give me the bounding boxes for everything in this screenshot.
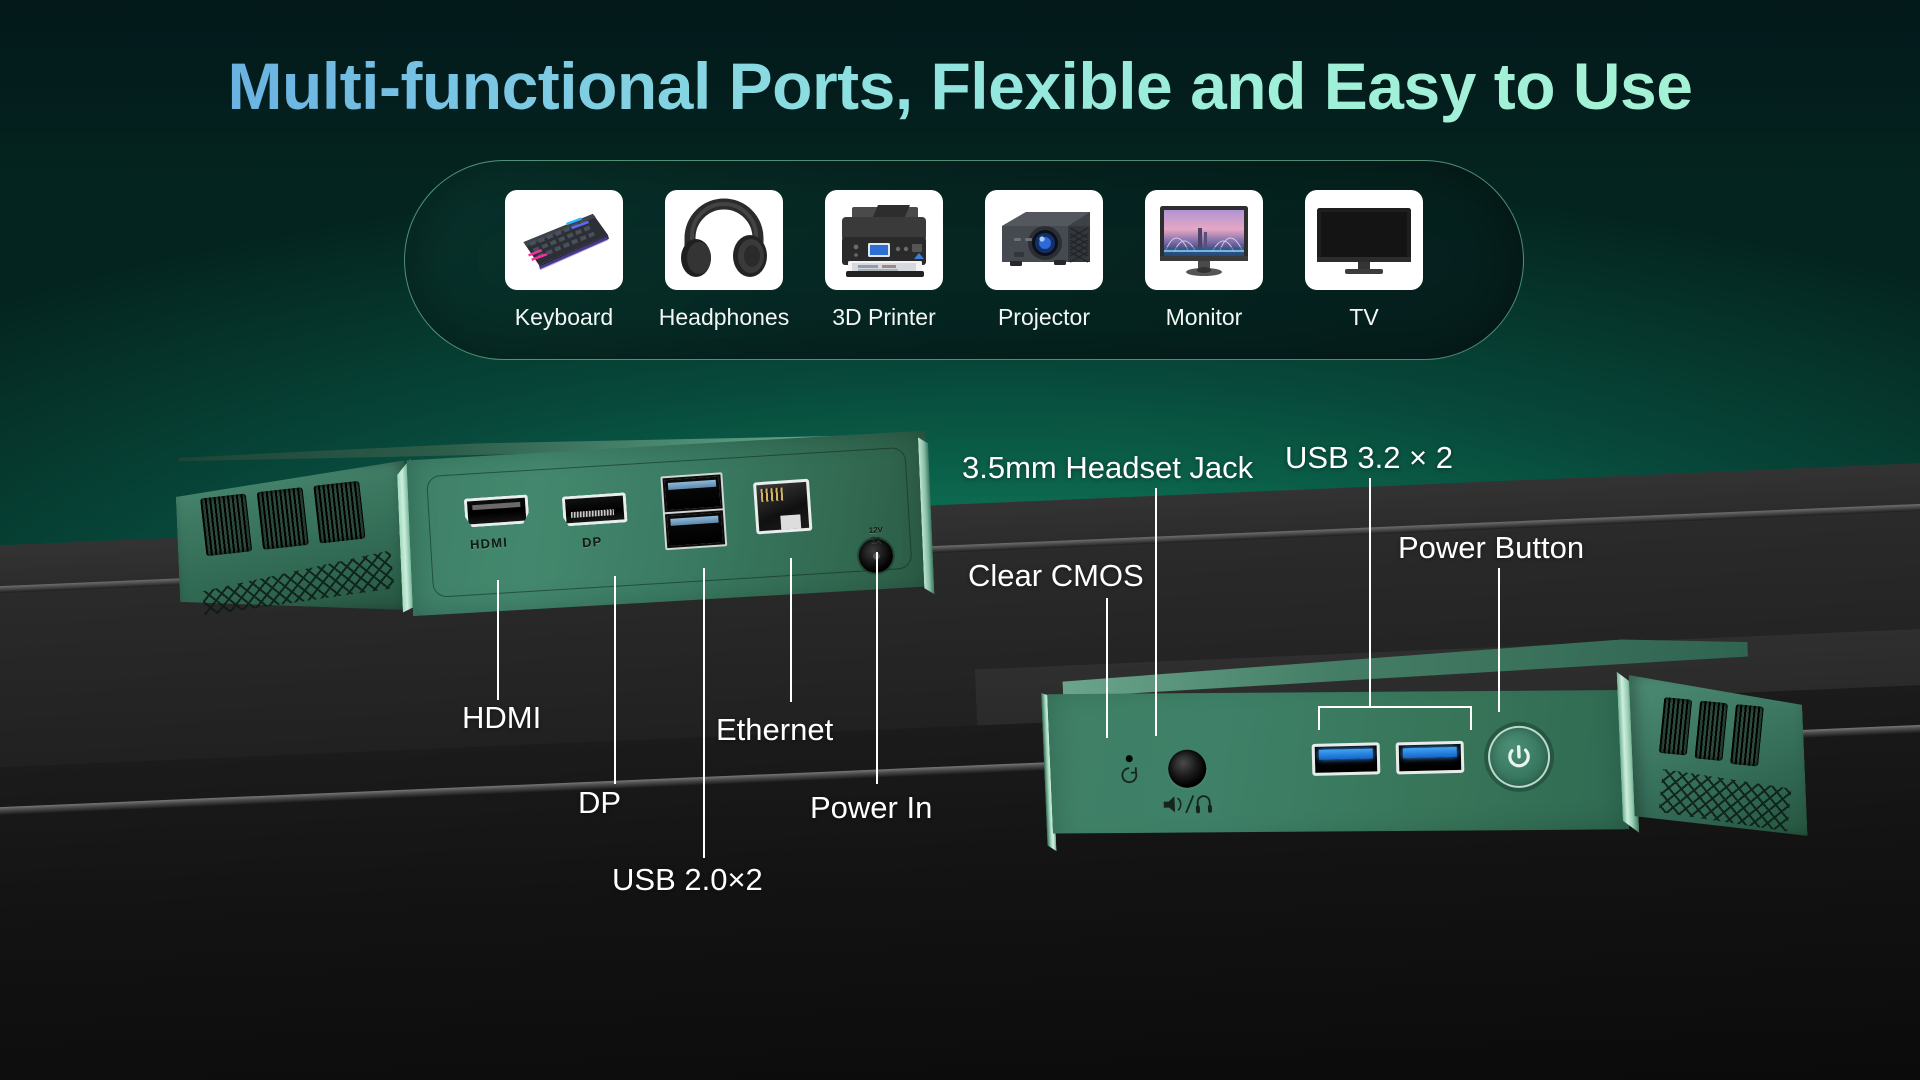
usb3-port[interactable] — [1312, 742, 1381, 776]
callout-label-power-button: Power Button — [1398, 530, 1584, 566]
callout-label-clear-cmos: Clear CMOS — [968, 558, 1144, 594]
device-item-3d-printer[interactable]: 3D Printer — [825, 190, 943, 331]
device-label: TV — [1349, 304, 1378, 331]
callout-label-usb3: USB 3.2 × 2 — [1285, 440, 1453, 476]
device-item-tv[interactable]: TV — [1305, 190, 1423, 331]
ethernet-port[interactable] — [753, 479, 812, 535]
callout-line-dp — [614, 576, 616, 784]
usb2-port[interactable] — [665, 510, 725, 548]
device-label: Headphones — [659, 304, 789, 331]
device-item-keyboard[interactable]: Keyboard — [505, 190, 623, 331]
compatible-devices-panel: Keyboard Headphones — [404, 160, 1524, 360]
reset-icon — [1118, 764, 1141, 787]
callout-label-power-in: Power In — [810, 790, 932, 826]
callout-line-usb3 — [1369, 478, 1371, 706]
device-item-headphones[interactable]: Headphones — [665, 190, 783, 331]
callout-line-ethernet — [790, 558, 792, 702]
callout-bracket-usb3-right — [1470, 706, 1472, 730]
projector-icon — [985, 190, 1103, 290]
callout-line-hdmi — [497, 580, 499, 700]
callout-label-headset-jack: 3.5mm Headset Jack — [962, 450, 1253, 486]
vent-slot — [1659, 697, 1692, 755]
callout-line-power-in — [876, 552, 878, 784]
vent-slot-group — [1658, 697, 1763, 766]
power-icon — [1503, 741, 1534, 772]
device-item-monitor[interactable]: Monitor — [1145, 190, 1263, 331]
headset-audio-icon — [1161, 793, 1216, 817]
callout-label-usb2: USB 2.0×2 — [612, 862, 763, 898]
callout-label-hdmi: HDMI — [462, 700, 541, 736]
dp-port-marking: DP — [582, 534, 603, 550]
device-label: 3D Printer — [832, 304, 936, 331]
hdmi-port[interactable] — [464, 494, 530, 527]
page-title: Multi-functional Ports, Flexible and Eas… — [0, 48, 1920, 124]
callout-line-headset-jack — [1155, 488, 1157, 736]
device-label: Keyboard — [515, 304, 613, 331]
keyboard-icon — [505, 190, 623, 290]
vent-slot — [313, 481, 365, 544]
scene: Multi-functional Ports, Flexible and Eas… — [0, 0, 1920, 1080]
callout-bracket-usb3-left — [1318, 706, 1320, 730]
vent-slot — [1694, 701, 1728, 761]
callout-label-dp: DP — [578, 785, 621, 821]
vent-slot — [257, 487, 309, 550]
headphones-icon — [665, 190, 783, 290]
callout-line-usb2 — [703, 568, 705, 858]
device-label: Monitor — [1166, 304, 1243, 331]
tv-icon — [1305, 190, 1423, 290]
monitor-icon — [1145, 190, 1263, 290]
printer-icon — [825, 190, 943, 290]
mini-pc-front — [1036, 632, 1805, 884]
hdmi-port-marking: HDMI — [470, 535, 509, 553]
mini-pc-rear: HDMI DP 12V 3A — [174, 416, 943, 668]
dp-port[interactable] — [562, 492, 628, 526]
callout-bracket-usb3 — [1318, 706, 1471, 708]
usb3-port[interactable] — [1396, 741, 1465, 775]
dc-port-marking-current: 3A — [854, 535, 898, 546]
device-item-projector[interactable]: Projector — [985, 190, 1103, 331]
ethernet-port-inner — [756, 482, 809, 531]
callout-line-power-button — [1498, 568, 1500, 712]
vent-slot — [1730, 704, 1764, 766]
vent-slot — [200, 493, 252, 556]
device-label: Projector — [998, 304, 1090, 331]
usb2-port[interactable] — [663, 474, 723, 512]
usb2-ports[interactable] — [660, 472, 727, 550]
callout-label-ethernet: Ethernet — [716, 712, 833, 748]
callout-line-clear-cmos — [1106, 598, 1108, 738]
